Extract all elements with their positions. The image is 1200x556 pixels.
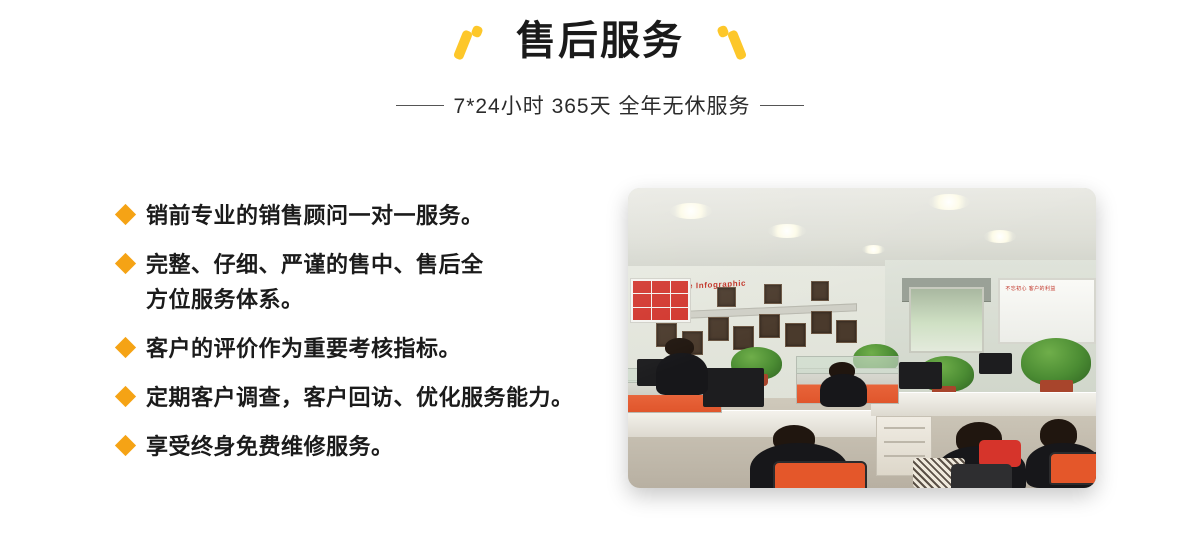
- photo-ceiling-light: [928, 194, 970, 210]
- photo-monitor: [899, 362, 941, 389]
- photo-certificate-frame: [836, 320, 857, 343]
- diamond-bullet-icon: [115, 204, 136, 225]
- list-item-label-continued: 方位服务体系。: [146, 282, 484, 317]
- photo-certificate-frame: [811, 281, 830, 301]
- list-item-label: 销前专业的销售顾问一对一服务。: [146, 198, 484, 233]
- diamond-bullet-icon: [115, 337, 136, 358]
- diamond-bullet-icon: [115, 435, 136, 456]
- photo-office-chair: [951, 464, 1012, 488]
- photo-certificate-frame: [811, 311, 832, 334]
- yellow-slash-left-icon: [452, 20, 488, 62]
- list-item-text-wrapper: 完整、仔细、严谨的售中、售后全 方位服务体系。: [146, 247, 484, 317]
- list-item-label: 完整、仔细、严谨的售中、售后全: [146, 247, 484, 282]
- diamond-bullet-icon: [115, 386, 136, 407]
- list-item: 享受终身免费维修服务。: [118, 429, 618, 464]
- photo-window: [909, 287, 984, 353]
- sales-service-banner: 售后服务 7*24小时 365天 全年无休服务 销前专业的销售顾问一对一服务。: [0, 0, 1200, 556]
- list-item-text-wrapper: 定期客户调查，客户回访、优化服务能力。: [146, 380, 574, 415]
- photo-whiteboard-text: 不忘初心 客户的利益: [1005, 285, 1055, 292]
- list-item-text-wrapper: 享受终身免费维修服务。: [146, 429, 394, 464]
- diamond-bullet-icon: [115, 253, 136, 274]
- photo-ceiling-light: [670, 203, 712, 219]
- list-item: 定期客户调查，客户回访、优化服务能力。: [118, 380, 618, 415]
- list-item-text-wrapper: 销前专业的销售顾问一对一服务。: [146, 198, 484, 233]
- list-item-label: 享受终身免费维修服务。: [146, 429, 394, 464]
- content-section: 销前专业的销售顾问一对一服务。 完整、仔细、严谨的售中、售后全 方位服务体系。 …: [0, 140, 1200, 556]
- slash-bar: [727, 29, 748, 61]
- photo-monitor: [703, 368, 764, 407]
- photo-certificate-frame: [764, 284, 783, 304]
- yellow-slash-right-icon: [712, 20, 748, 62]
- subtitle-dash-right: [760, 105, 804, 106]
- photo-plant: [1021, 338, 1091, 386]
- photo-ceiling-light: [768, 224, 805, 238]
- list-item: 客户的评价作为重要考核指标。: [118, 331, 618, 366]
- photo-whiteboard: 不忘初心 客户的利益: [998, 278, 1096, 344]
- photo-monitor: [979, 353, 1012, 374]
- photo-person: [656, 353, 707, 395]
- subtitle-dash-left: [396, 105, 444, 106]
- list-item-text-wrapper: 客户的评价作为重要考核指标。: [146, 331, 461, 366]
- header-section: 售后服务 7*24小时 365天 全年无休服务: [0, 0, 1200, 140]
- office-photo-image: Timeline Infographic: [628, 188, 1096, 488]
- photo-office-chair: [773, 461, 867, 488]
- photo-desk: [871, 392, 1096, 416]
- photo-red-bag: [979, 440, 1021, 467]
- photo-certificate-frame: [708, 317, 729, 341]
- photo-office-chair: [1049, 452, 1096, 485]
- photo-ceiling-light: [984, 230, 1017, 243]
- page-title: 售后服务: [516, 18, 684, 64]
- photo-person: [820, 374, 867, 407]
- office-photo: Timeline Infographic: [628, 188, 1096, 488]
- slash-bar: [453, 29, 474, 61]
- photo-red-notice-board-left: [630, 278, 691, 323]
- list-item-label: 客户的评价作为重要考核指标。: [146, 331, 461, 366]
- slash-dot: [470, 25, 483, 39]
- subtitle-row: 7*24小时 365天 全年无休服务: [0, 90, 1200, 120]
- list-item-label: 定期客户调查，客户回访、优化服务能力。: [146, 380, 574, 415]
- photo-certificate-frame: [785, 323, 806, 347]
- list-item: 销前专业的销售顾问一对一服务。: [118, 198, 618, 233]
- photo-certificate-frame: [759, 314, 780, 338]
- page-subtitle: 7*24小时 365天 全年无休服务: [454, 90, 751, 120]
- list-item: 完整、仔细、严谨的售中、售后全 方位服务体系。: [118, 247, 618, 317]
- photo-desk: [628, 410, 881, 437]
- title-row: 售后服务: [0, 18, 1200, 64]
- photo-certificate-frame: [717, 287, 736, 307]
- service-feature-list: 销前专业的销售顾问一对一服务。 完整、仔细、严谨的售中、售后全 方位服务体系。 …: [118, 198, 618, 464]
- photo-ceiling: [628, 188, 1096, 269]
